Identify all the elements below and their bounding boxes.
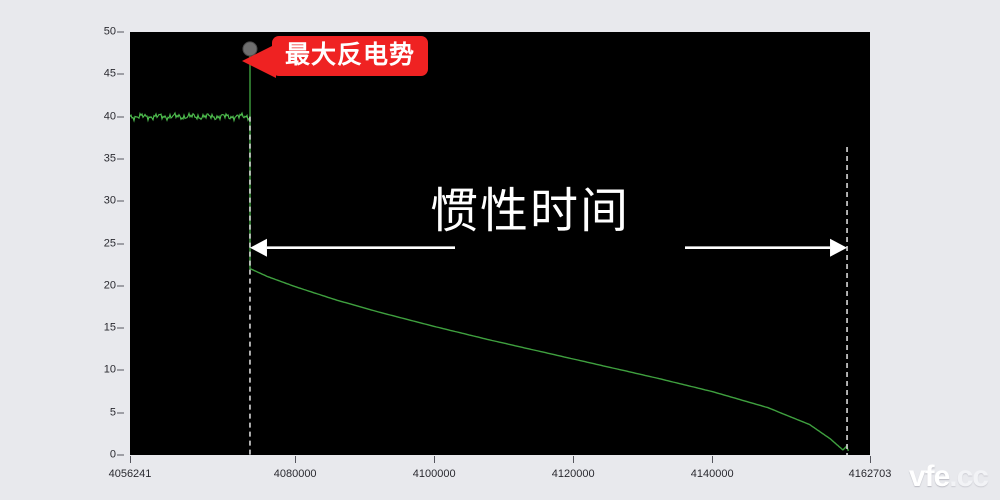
series-back-emf <box>130 49 848 451</box>
callout-pointer-icon <box>242 44 276 78</box>
y-tick-mark <box>117 201 124 202</box>
x-tick-mark <box>712 456 713 463</box>
series-line <box>250 49 848 451</box>
x-tick-label: 4162703 <box>849 469 892 480</box>
y-tick-label: 5 <box>110 407 116 418</box>
x-tick-label: 4100000 <box>413 469 456 480</box>
arrow-head-right-icon <box>830 239 847 257</box>
y-tick-label: 10 <box>104 365 116 376</box>
plot-area <box>130 32 870 455</box>
y-tick-mark <box>117 328 124 329</box>
y-axis: 05101520253035404550 <box>0 0 130 500</box>
y-tick-mark <box>117 32 124 33</box>
chart-screenshot: 05101520253035404550 最大反电势 惯性时间 <box>0 0 1000 500</box>
y-tick-label: 20 <box>104 280 116 291</box>
y-tick-label: 45 <box>104 69 116 80</box>
y-tick-label: 35 <box>104 153 116 164</box>
y-tick-mark <box>117 370 124 371</box>
x-tick-mark <box>130 456 131 463</box>
y-tick-label: 25 <box>104 238 116 249</box>
plot-canvas <box>130 32 870 455</box>
x-tick-mark <box>295 456 296 463</box>
y-tick-mark <box>117 116 124 117</box>
series-noise-line <box>130 113 249 121</box>
y-tick-mark <box>117 158 124 159</box>
y-tick-mark <box>117 285 124 286</box>
y-tick-mark <box>117 243 124 244</box>
arrow-head-left-icon <box>250 239 267 257</box>
x-tick-label: 4120000 <box>552 469 595 480</box>
watermark: vfe.cc <box>909 462 988 492</box>
y-tick-mark <box>117 412 124 413</box>
inertia-arrow <box>250 239 847 257</box>
watermark-bold: vfe <box>909 460 949 493</box>
watermark-light: .cc <box>949 460 988 493</box>
x-tick-mark <box>434 456 435 463</box>
y-tick-label: 15 <box>104 323 116 334</box>
y-tick-label: 30 <box>104 196 116 207</box>
x-tick-label: 4080000 <box>274 469 317 480</box>
y-tick-label: 40 <box>104 111 116 122</box>
x-tick-mark <box>870 456 871 463</box>
inertia-time-label: 惯性时间 <box>430 188 630 236</box>
x-tick-label: 4056241 <box>109 469 152 480</box>
x-tick-label: 4140000 <box>691 469 734 480</box>
x-axis: 4056241408000041000004120000414000041627… <box>0 455 1000 500</box>
y-tick-label: 50 <box>104 27 116 38</box>
y-tick-mark <box>117 74 124 75</box>
x-tick-mark <box>573 456 574 463</box>
max-back-emf-callout[interactable]: 最大反电势 <box>272 36 428 76</box>
